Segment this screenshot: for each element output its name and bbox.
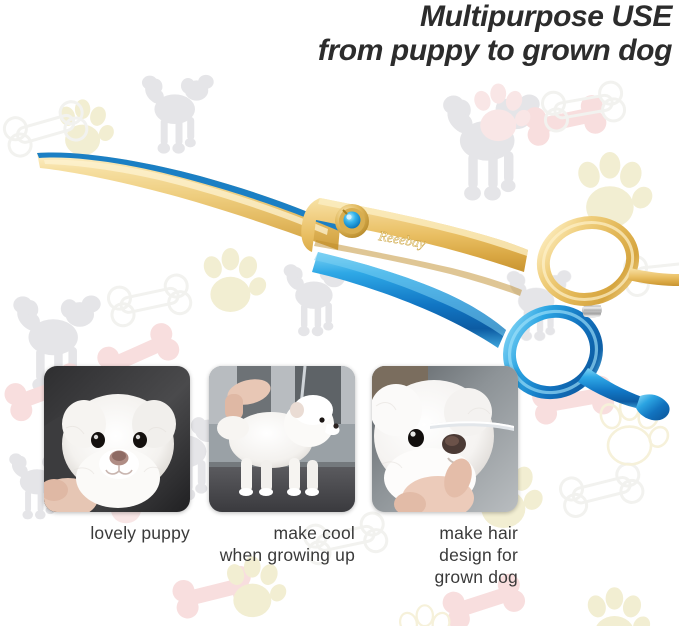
gold-finger-ring: [535, 213, 679, 309]
headline-line-2: from puppy to grown dog: [120, 34, 672, 68]
photo-2-illustration: [209, 366, 355, 512]
photo-3-illustration: [372, 366, 518, 512]
photo-caption-1: lovely puppy: [20, 522, 190, 544]
svg-text:Reeebay: Reeebay: [376, 229, 427, 252]
product-marketing-image: Multipurpose USE from puppy to grown dog: [0, 0, 679, 626]
product-photo-puppy[interactable]: [44, 366, 190, 512]
headline: Multipurpose USE from puppy to grown dog: [120, 0, 672, 67]
product-photo-hair-design[interactable]: [372, 366, 518, 512]
blue-finger-ring: [497, 298, 669, 420]
photo-1-illustration: [44, 366, 190, 512]
photo-caption-3: make hair design for grown dog: [348, 522, 518, 588]
tension-screw: [582, 302, 602, 318]
brand-engraving: Reeebay: [376, 229, 427, 252]
pivot-screw: [335, 204, 369, 238]
gold-shank-body: [301, 198, 528, 296]
headline-line-1: Multipurpose USE: [120, 0, 672, 34]
product-photo-growing-dog[interactable]: [209, 366, 355, 512]
gold-curved-blade: [37, 152, 340, 250]
photo-caption-2: make cool when growing up: [185, 522, 355, 566]
blue-blade-and-shank: [312, 252, 506, 348]
